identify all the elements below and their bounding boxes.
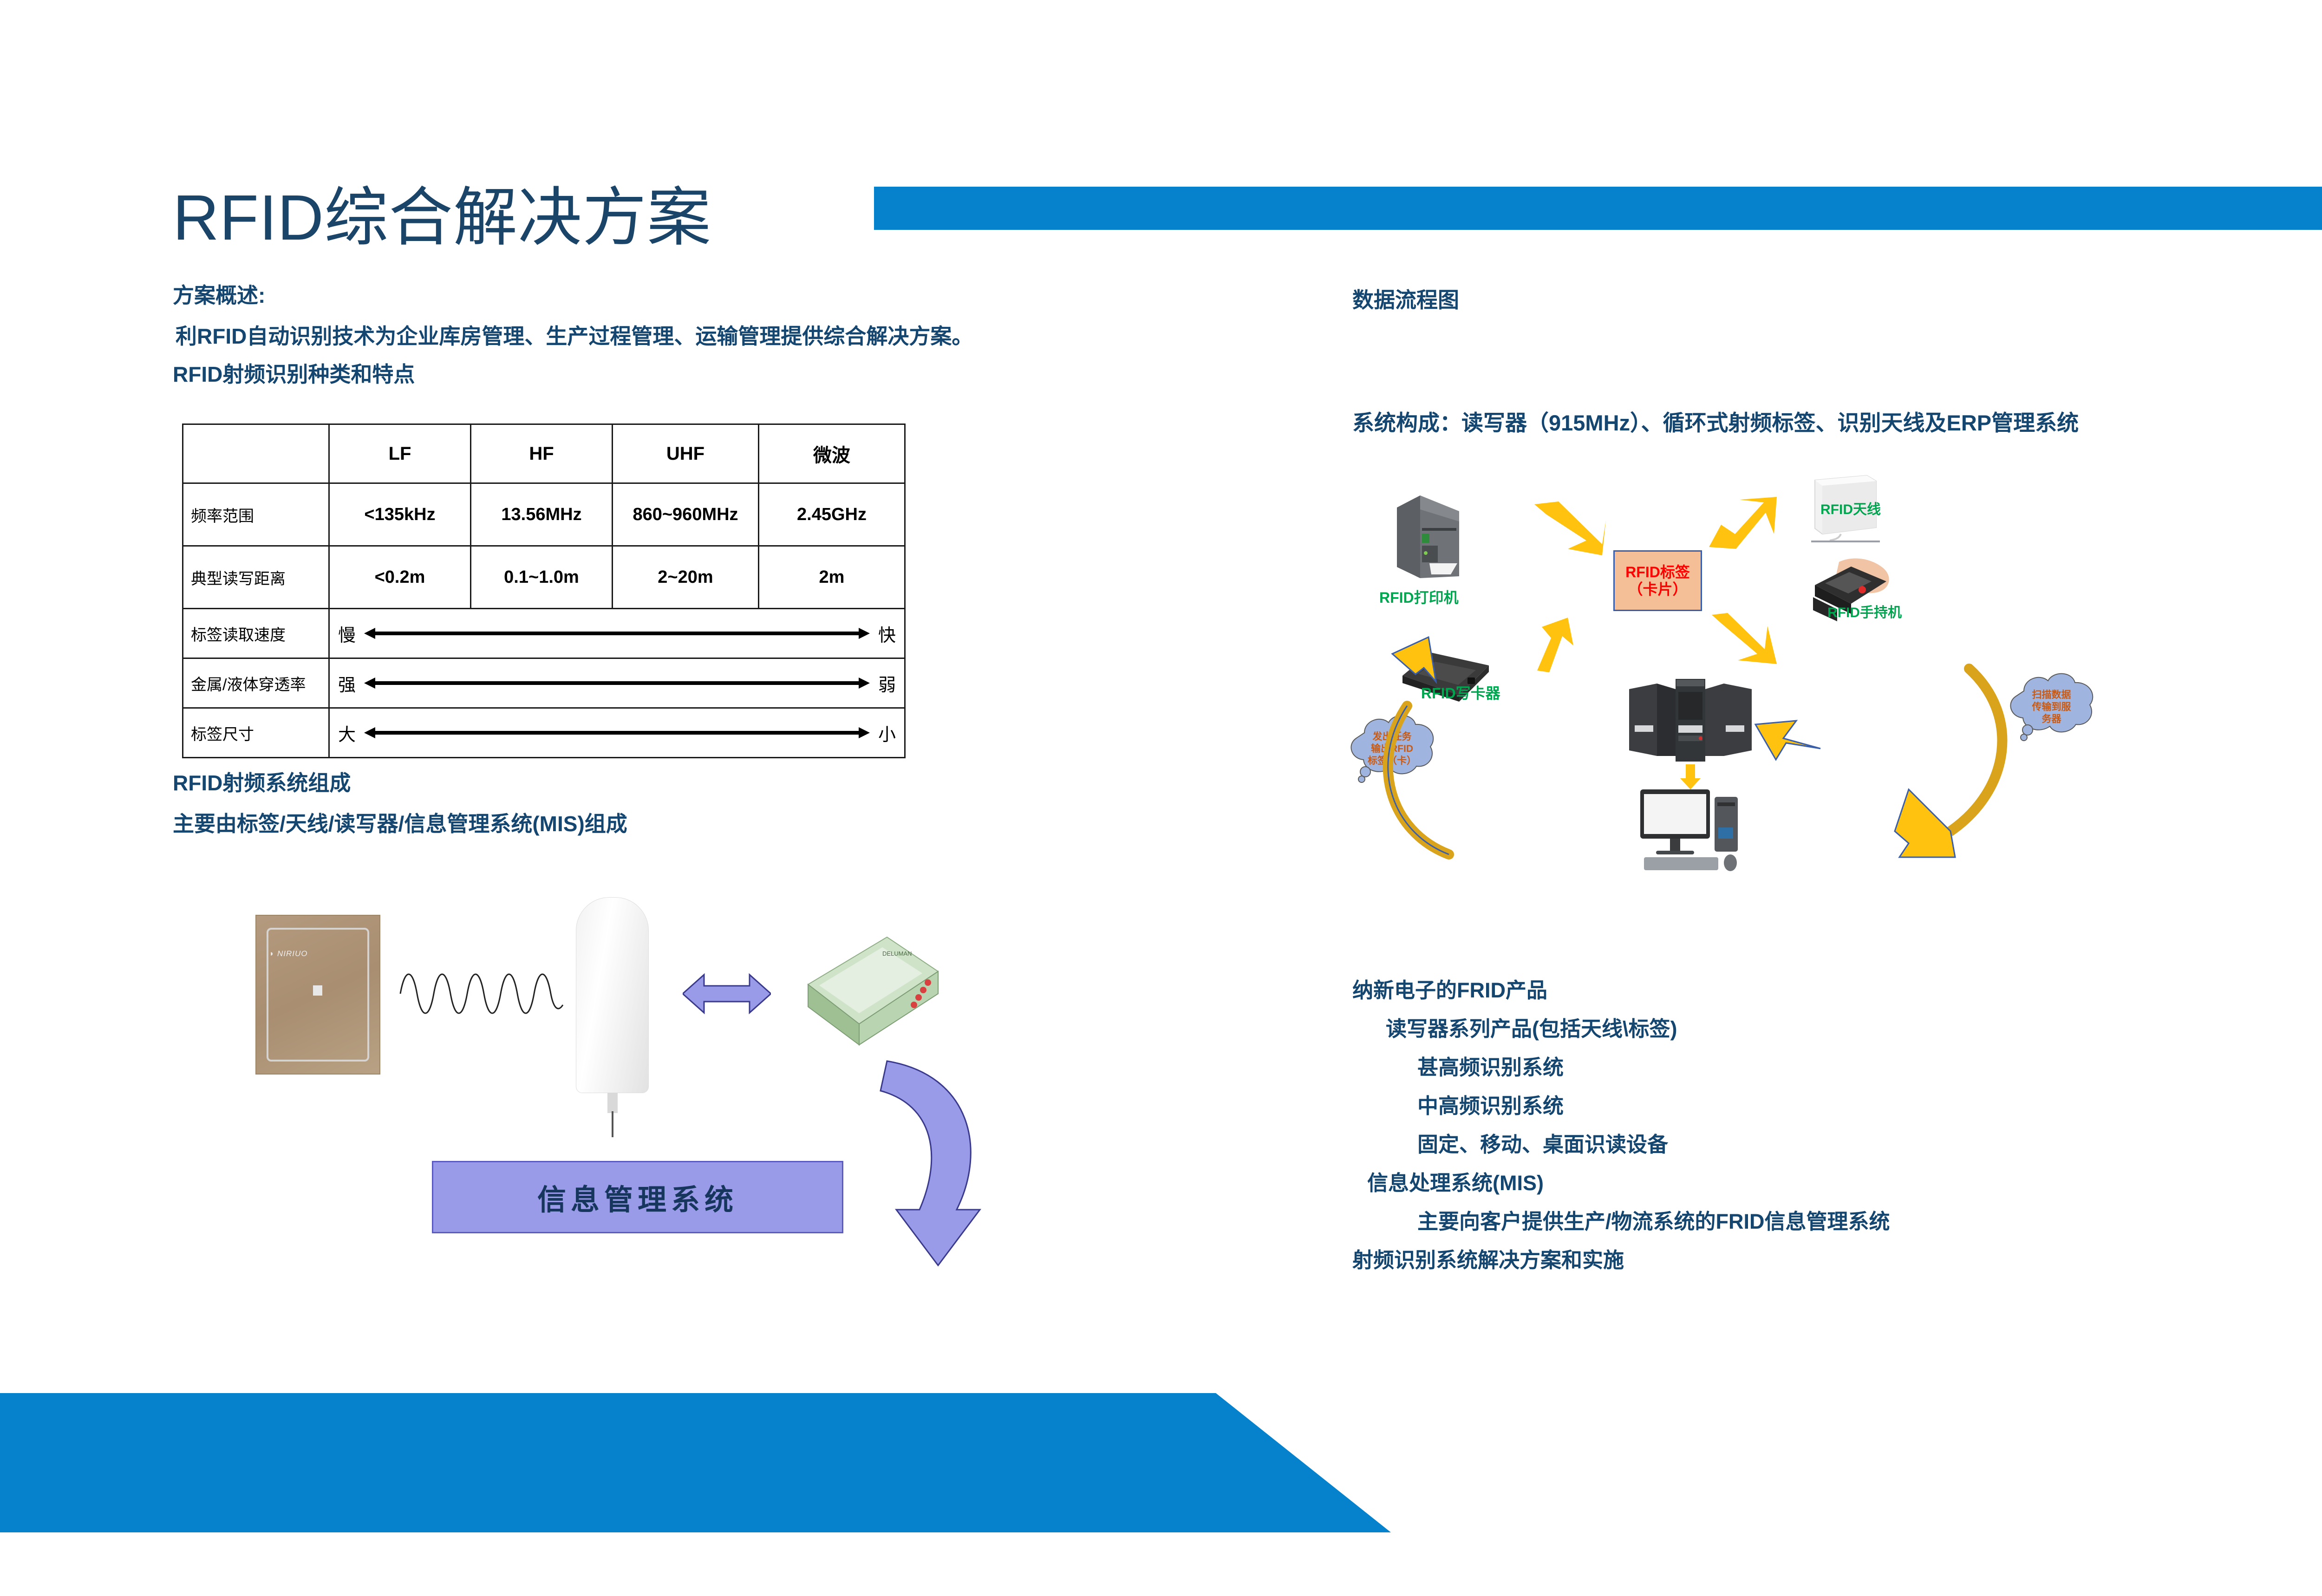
handheld-caption: RFID手持机 (1827, 601, 1902, 621)
cell-freq-lf: <135kHz (329, 483, 471, 546)
scan-upload-cloud-icon (2002, 669, 2101, 743)
overview-label: 方案概述: (173, 279, 265, 309)
rfid-printer-photo (1393, 485, 1463, 583)
table-header-row: LF HF UHF 微波 (183, 424, 905, 483)
overview-subtitle: RFID射频识别种类和特点 (173, 358, 415, 388)
mis-box: 信息管理系统 (432, 1161, 843, 1233)
tag-box-line2: （卡片） (1628, 581, 1687, 598)
list-item: 主要向客户提供生产/物流系统的FRID信息管理系统 (1417, 1211, 2188, 1232)
cell-dist-uhf: 2~20m (613, 546, 759, 609)
table-row: 标签尺寸 大 小 (183, 708, 905, 758)
arrow-writer-to-tag-icon (1537, 618, 1607, 673)
tag-chip (313, 985, 322, 996)
row-label-frequency-range: 频率范围 (183, 483, 329, 546)
cell-freq-micro: 2.45GHz (759, 483, 905, 546)
table-row: 标签读取速度 慢 快 (183, 609, 905, 658)
rfid-antenna-photo (576, 897, 649, 1093)
table-row: 频率范围 <135kHz 13.56MHz 860~960MHz 2.45GHz (183, 483, 905, 546)
svg-text:DELUMAN: DELUMAN (882, 950, 912, 957)
header-accent-bar (874, 187, 2322, 230)
table-corner-cell (183, 424, 329, 483)
table-row: 金属/液体穿透率 强 弱 (183, 658, 905, 708)
table-col-uhf: UHF (613, 424, 759, 483)
system-composition-line: 系统构成：读写器（915MHz）、循环式射频标签、识别天线及ERP管理系统 (1352, 405, 2079, 437)
system-composition-heading: RFID射频系统组成 (173, 766, 351, 797)
rfid-tag-photo: ◗ NIRIUO (255, 915, 380, 1075)
antenna-caption: RFID天线 (1820, 498, 1881, 518)
dataflow-title: 数据流程图 (1352, 283, 1459, 314)
scale-cell-read-speed: 慢 快 (329, 609, 905, 658)
printer-caption: RFID打印机 (1379, 586, 1459, 607)
list-item: 射频识别系统解决方案和实施 (1352, 1250, 2188, 1270)
double-arrow-icon (364, 628, 870, 639)
rfid-reader-photo: DELUMAN (789, 929, 943, 1049)
rfid-tag-box: RFID标签 （卡片） (1613, 550, 1702, 611)
table-col-hf: HF (471, 424, 613, 483)
radio-wave-icon (399, 966, 564, 1022)
arrow-tag-to-handheld-icon (1709, 613, 1779, 671)
footer-accent-shape (0, 1393, 2322, 1532)
scale-right-penetration: 弱 (878, 671, 896, 696)
cell-freq-uhf: 860~960MHz (613, 483, 759, 546)
table-row: 典型读写距离 <0.2m 0.1~1.0m 2~20m 2m (183, 546, 905, 609)
system-composition-subheading: 主要由标签/天线/读写器/信息管理系统(MIS)组成 (173, 807, 627, 838)
scale-right-read-speed: 快 (878, 621, 896, 646)
list-item: 甚高频识别系统 (1417, 1057, 2188, 1078)
double-arrow-icon (364, 677, 870, 689)
list-item: 中高频识别系统 (1417, 1095, 2188, 1116)
scale-right-tag-size: 小 (878, 720, 896, 746)
page-title: RFID综合解决方案 (173, 186, 711, 250)
dataflow-diagram: RFID打印机 RFID写卡器 RFID天线 RFID手持机 RFID标签 （卡… (1337, 464, 2155, 957)
table-col-lf: LF (329, 424, 471, 483)
product-list: 纳新电子的FRID产品 读写器系列产品(包括天线\标签) 甚高频识别系统 中高频… (1352, 980, 2188, 1270)
server-rack-photo (1621, 673, 1760, 766)
overview-line: 利RFID自动识别技术为企业库房管理、生产过程管理、运输管理提供综合解决方案。 (176, 319, 973, 350)
bidirectional-arrow-icon (683, 968, 771, 1019)
cell-dist-hf: 0.1~1.0m (471, 546, 613, 609)
writer-caption: RFID写卡器 (1421, 682, 1500, 703)
scale-cell-penetration: 强 弱 (329, 658, 905, 708)
row-label-read-speed: 标签读取速度 (183, 609, 329, 658)
tag-brand-mark: ◗ NIRIUO (269, 949, 308, 958)
scale-left-tag-size: 大 (338, 720, 356, 746)
antenna-cable (612, 1111, 613, 1137)
list-item: 读写器系列产品(包括天线\标签) (1386, 1018, 2188, 1039)
task-dispatch-cloud-icon (1342, 710, 1442, 785)
scale-left-penetration: 强 (338, 671, 356, 696)
rfid-frequency-table: LF HF UHF 微波 频率范围 <135kHz 13.56MHz 860~9… (182, 423, 906, 758)
cell-dist-lf: <0.2m (329, 546, 471, 609)
list-item: 纳新电子的FRID产品 (1352, 980, 2188, 1001)
antenna-connector (607, 1093, 618, 1113)
double-arrow-icon (364, 727, 870, 738)
feedback-curve-arrow-icon (864, 1056, 994, 1275)
row-label-read-distance: 典型读写距离 (183, 546, 329, 609)
row-label-tag-size: 标签尺寸 (183, 708, 329, 758)
list-item: 信息处理系统(MIS) (1367, 1173, 2188, 1193)
row-label-penetration: 金属/液体穿透率 (183, 658, 329, 708)
scale-left-read-speed: 慢 (338, 621, 356, 646)
tag-box-line1: RFID标签 (1625, 564, 1690, 581)
list-item: 固定、移动、桌面识读设备 (1417, 1134, 2188, 1155)
table-col-micro: 微波 (759, 424, 905, 483)
scale-cell-tag-size: 大 小 (329, 708, 905, 758)
cell-freq-hf: 13.56MHz (471, 483, 613, 546)
arrow-printer-to-tag-icon (1533, 502, 1607, 557)
desktop-computer-photo (1635, 785, 1751, 873)
arrow-tag-to-antenna-icon (1709, 497, 1779, 553)
cell-dist-micro: 2m (759, 546, 905, 609)
